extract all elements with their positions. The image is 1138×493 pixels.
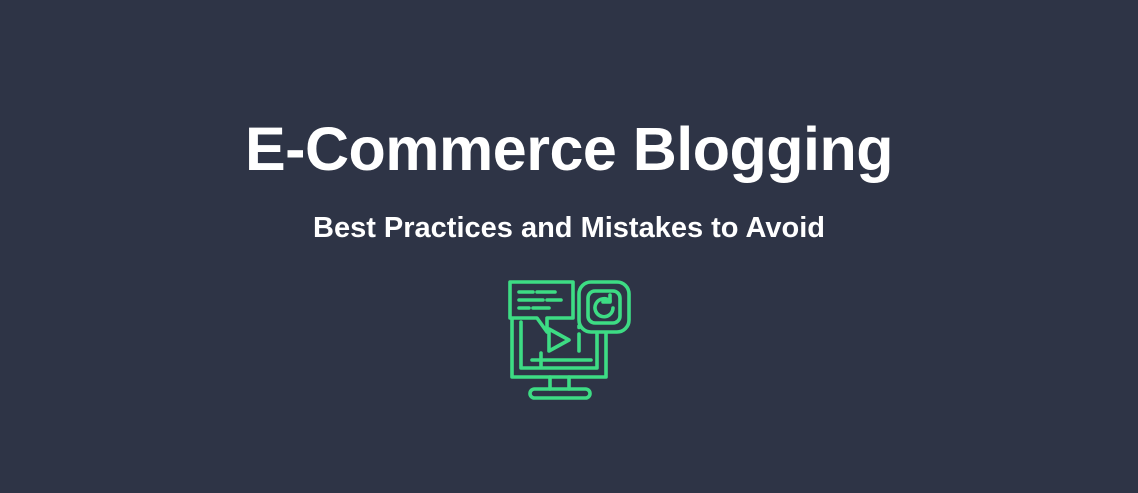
progress-slider [532, 353, 591, 367]
blog-content-monitor-icon [503, 275, 635, 407]
monitor-stand [530, 377, 590, 398]
banner-hero: E-Commerce Blogging Best Practices and M… [0, 0, 1138, 493]
page-subtitle: Best Practices and Mistakes to Avoid [0, 208, 1138, 248]
page-title: E-Commerce Blogging [0, 113, 1138, 185]
refresh-badge [579, 282, 629, 332]
blog-content-monitor-illustration [503, 275, 635, 407]
video-play-button [549, 329, 569, 351]
